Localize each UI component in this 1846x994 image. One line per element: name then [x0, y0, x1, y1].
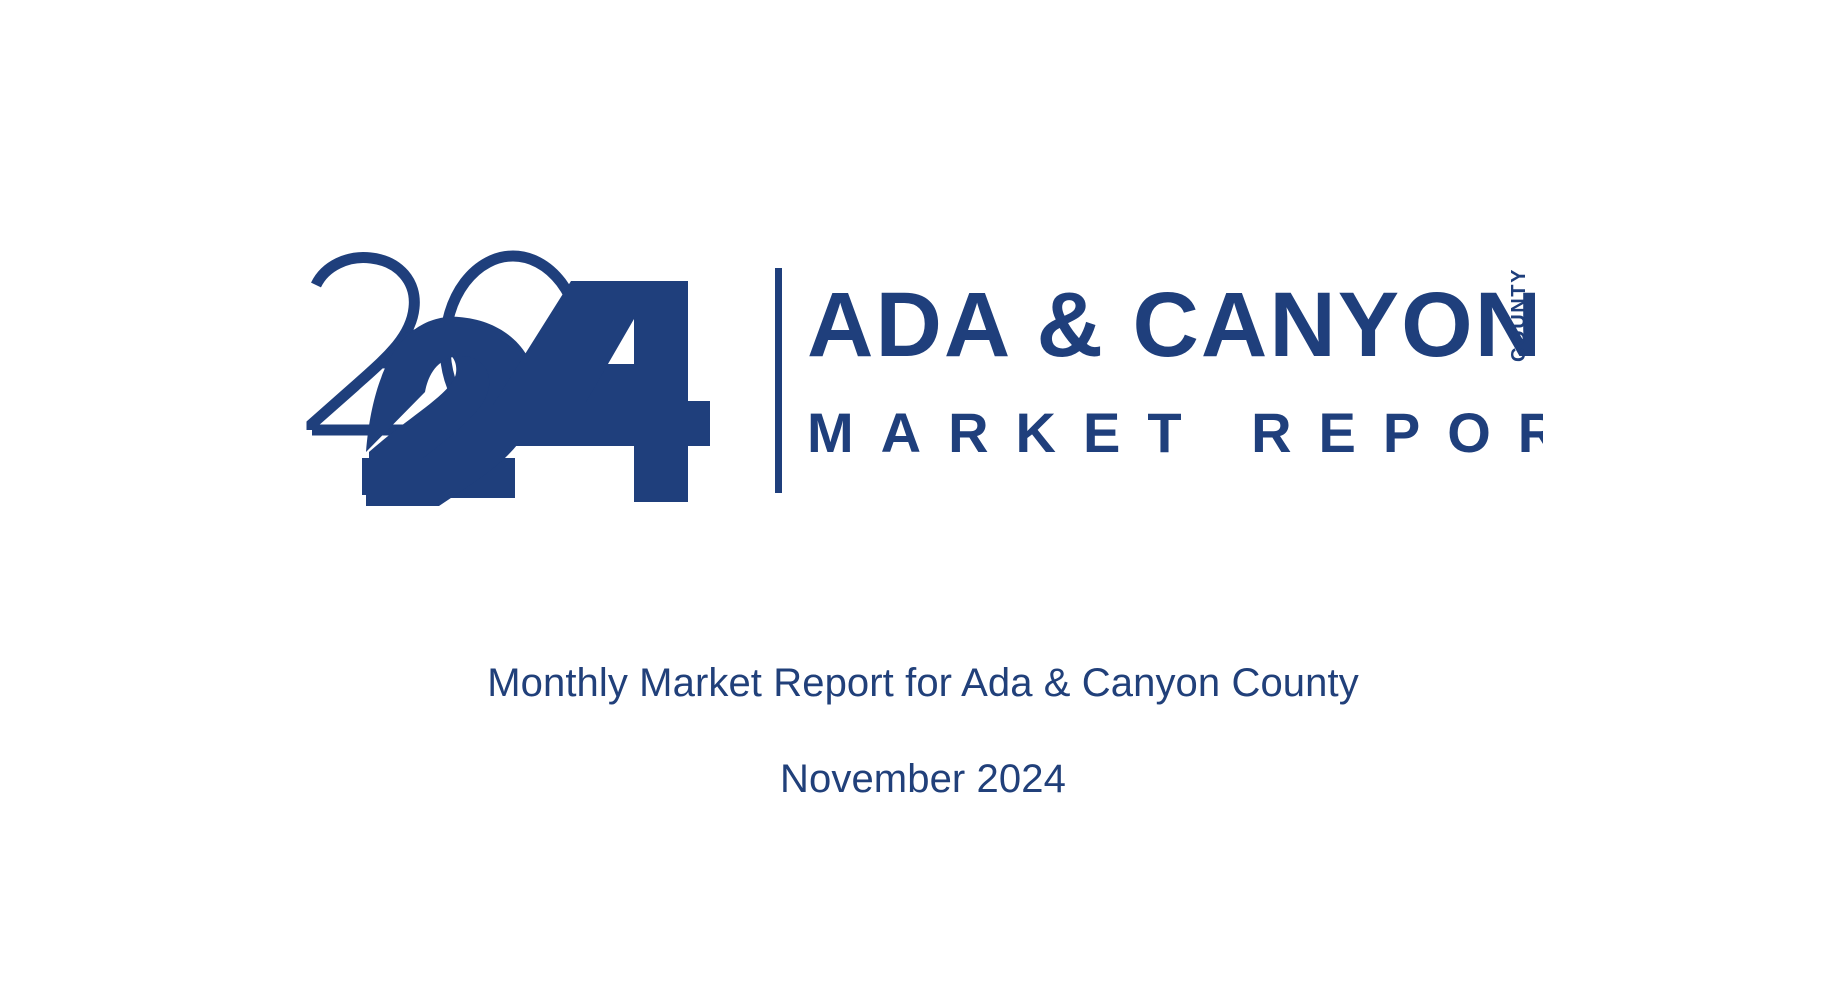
brand-logo-svg: ADA & CANYON COUNTY MARKET REPORT	[303, 246, 1543, 506]
logo-tagline: MARKET REPORT	[807, 401, 1543, 464]
logo-name-line: ADA & CANYON	[807, 274, 1543, 376]
report-period-line: November 2024	[0, 756, 1846, 802]
logo-county-tag: COUNTY	[1508, 268, 1530, 362]
subtitle-block: Monthly Market Report for Ada & Canyon C…	[0, 660, 1846, 802]
title-slide: ADA & CANYON COUNTY MARKET REPORT Monthl…	[0, 0, 1846, 994]
report-scope-line: Monthly Market Report for Ada & Canyon C…	[0, 660, 1846, 706]
logo-divider-rule	[775, 268, 782, 493]
brand-logo-lockup: ADA & CANYON COUNTY MARKET REPORT	[0, 246, 1846, 506]
